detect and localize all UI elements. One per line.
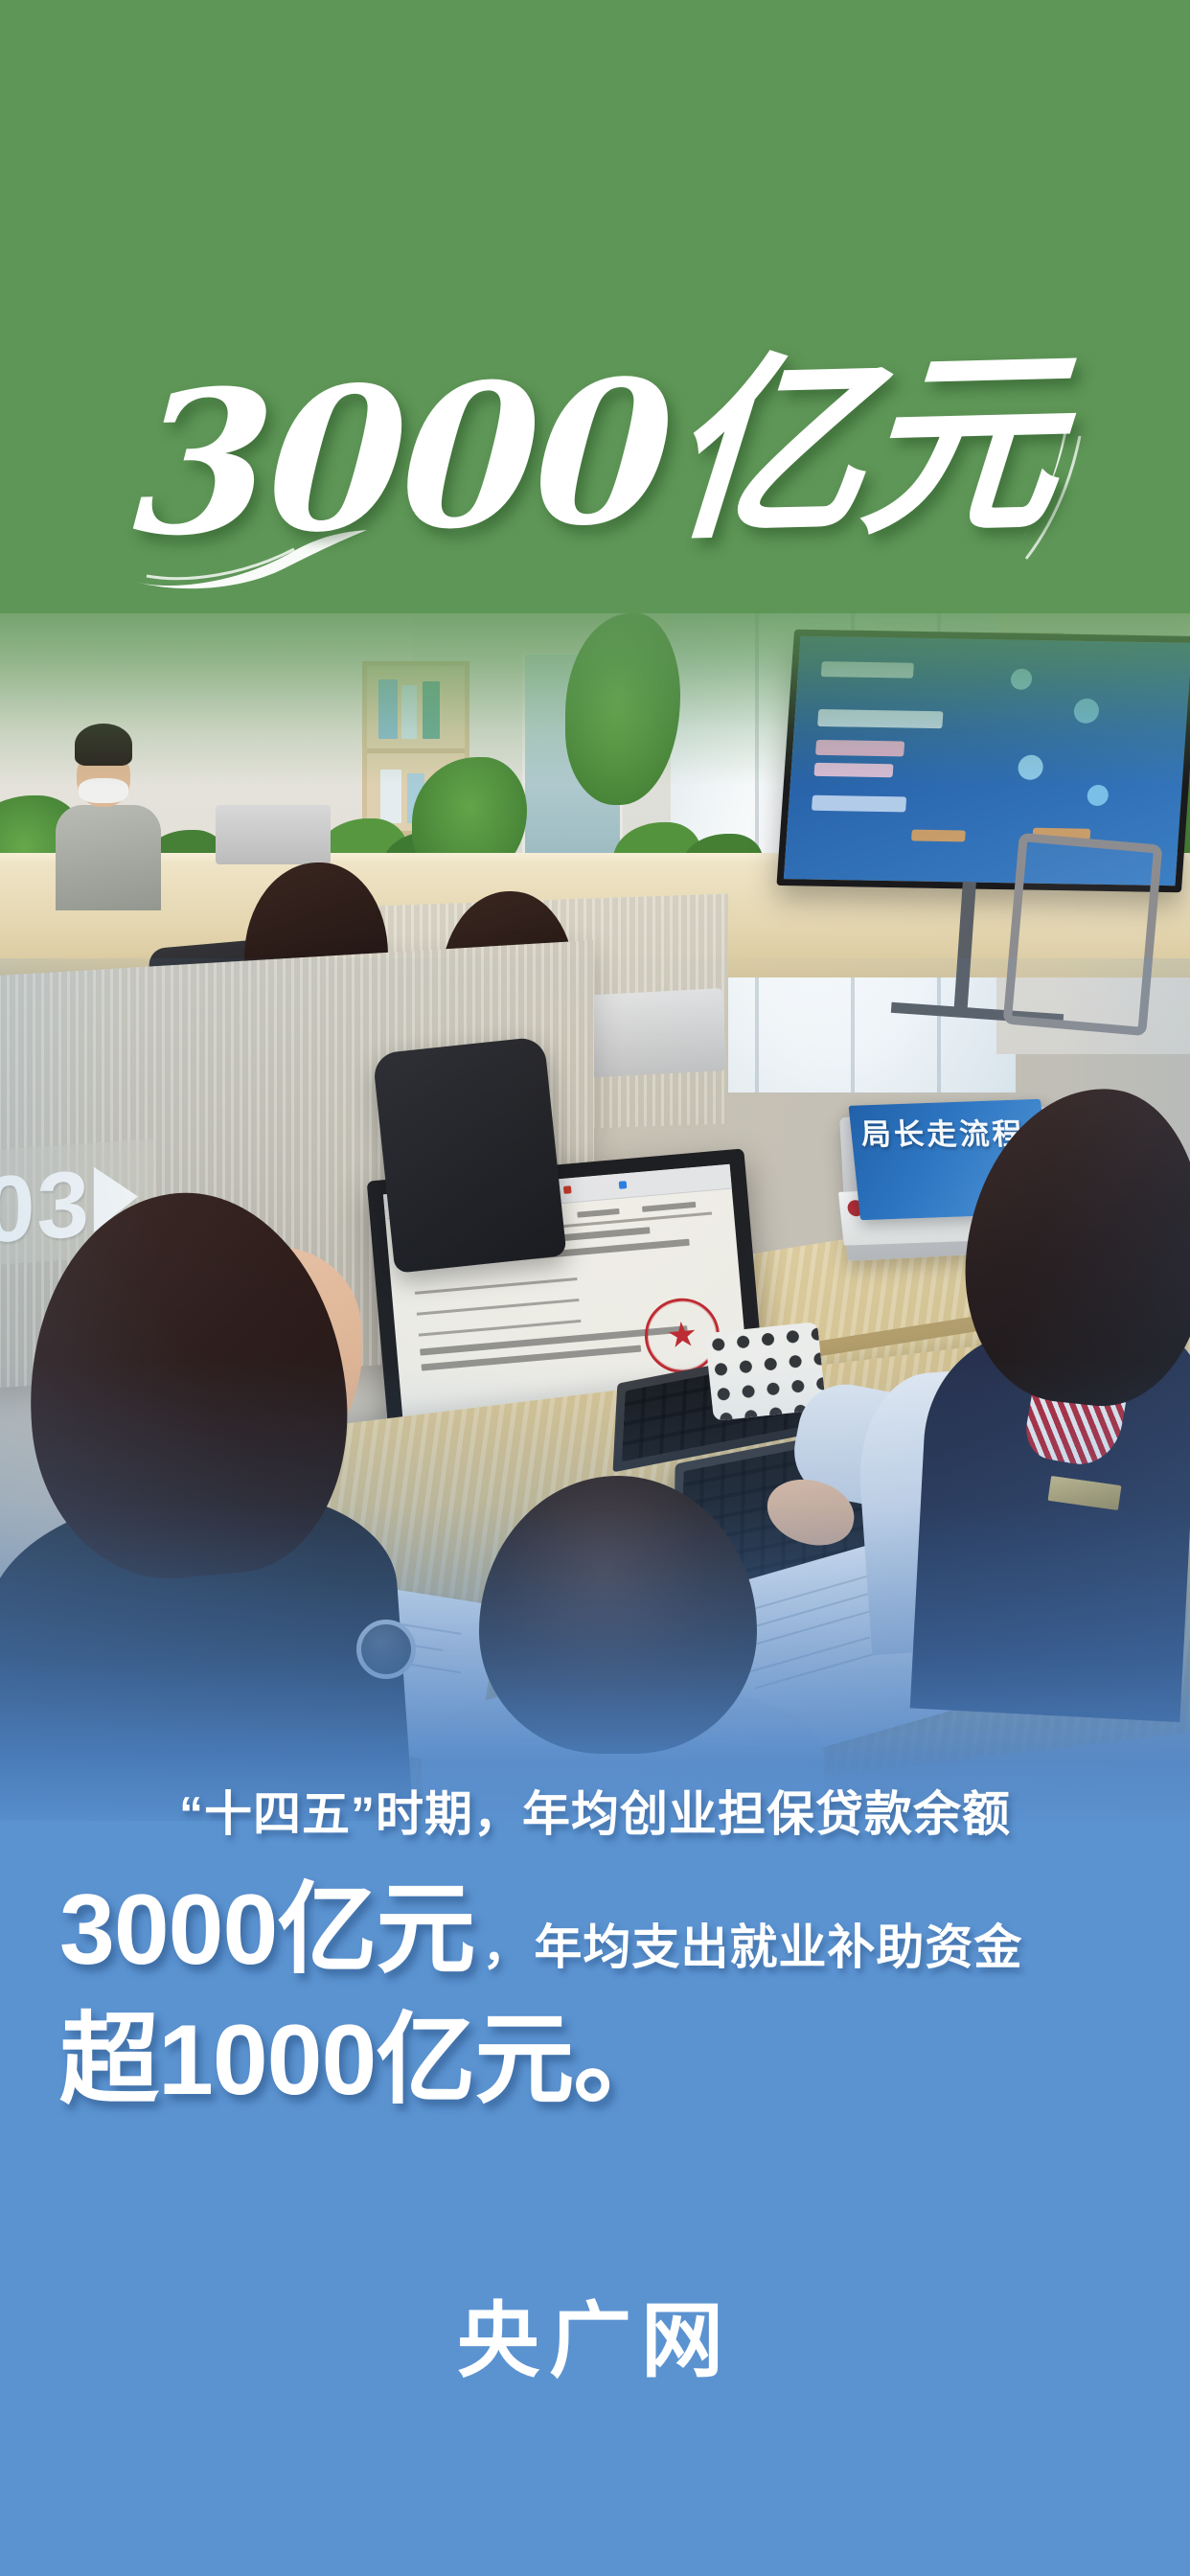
headline-text: 3000亿元: [129, 345, 1060, 563]
logo-text: 央广网: [457, 2300, 733, 2382]
poster-root: 03 淮南市人力资源和社会保障局（政务服务管理局） 局长走流程: [0, 0, 1190, 2576]
person-background-body: [56, 805, 161, 910]
caption-line-3: 超1000亿元。: [0, 2011, 1190, 2110]
caption-line-2-tail: 年均支出就业补助资金: [534, 1923, 1022, 1971]
publisher-logo: 央广网: [0, 2300, 1190, 2382]
person-background-hair: [75, 724, 132, 766]
caption-comma: ，: [482, 1923, 530, 1971]
chair-right-background: [1003, 833, 1163, 1036]
caption-number-3000: 3000亿元: [59, 1880, 474, 1980]
office-chair-front: [372, 1036, 566, 1274]
caption-line-2: 3000亿元 ， 年均支出就业补助资金: [0, 1880, 1190, 1980]
headline-block: 3000亿元: [0, 356, 1190, 553]
caption-line-1: “十四五”时期，年均创业担保贷款余额: [0, 1788, 1190, 1841]
face-mask: [79, 778, 128, 803]
printer-background: [216, 805, 331, 864]
citizen-wristwatch: [356, 1620, 416, 1679]
printer-middle: [579, 988, 726, 1078]
counter-number-label: 03: [0, 1149, 91, 1265]
